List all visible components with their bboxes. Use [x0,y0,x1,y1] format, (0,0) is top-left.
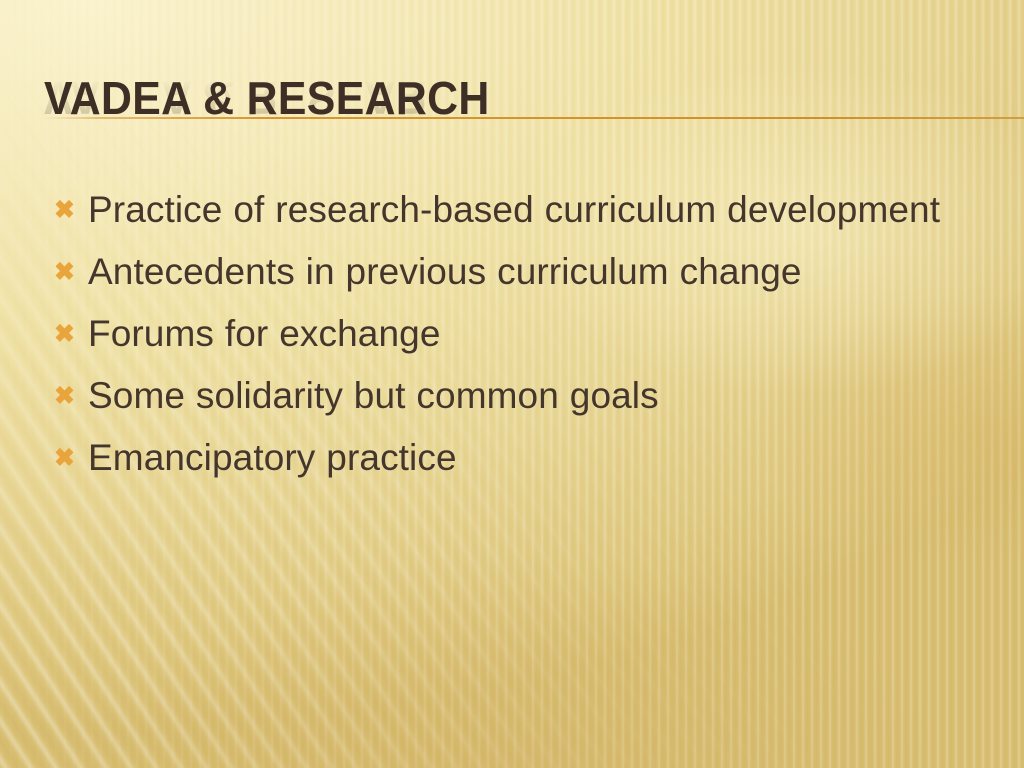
list-item: ✖ Emancipatory practice [52,430,952,486]
bullet-text: Some solidarity but common goals [88,368,952,424]
title-underline-rule [44,117,1024,119]
cross-bullet-icon: ✖ [52,430,88,486]
list-item: ✖ Antecedents in previous curriculum cha… [52,244,952,300]
slide-title-block: VADEA & RESEARCH VADEA & RESEARCH [44,72,1004,168]
presentation-slide: VADEA & RESEARCH VADEA & RESEARCH ✖ Prac… [0,0,1024,768]
bullet-text: Emancipatory practice [88,430,952,486]
cross-bullet-icon: ✖ [52,182,88,238]
bullet-text: Forums for exchange [88,306,952,362]
cross-bullet-icon: ✖ [52,306,88,362]
cross-bullet-icon: ✖ [52,368,88,424]
cross-bullet-icon: ✖ [52,244,88,300]
bullet-list: ✖ Practice of research-based curriculum … [52,182,952,492]
list-item: ✖ Practice of research-based curriculum … [52,182,952,238]
bullet-text: Antecedents in previous curriculum chang… [88,244,952,300]
list-item: ✖ Forums for exchange [52,306,952,362]
list-item: ✖ Some solidarity but common goals [52,368,952,424]
bullet-text: Practice of research-based curriculum de… [88,182,952,238]
